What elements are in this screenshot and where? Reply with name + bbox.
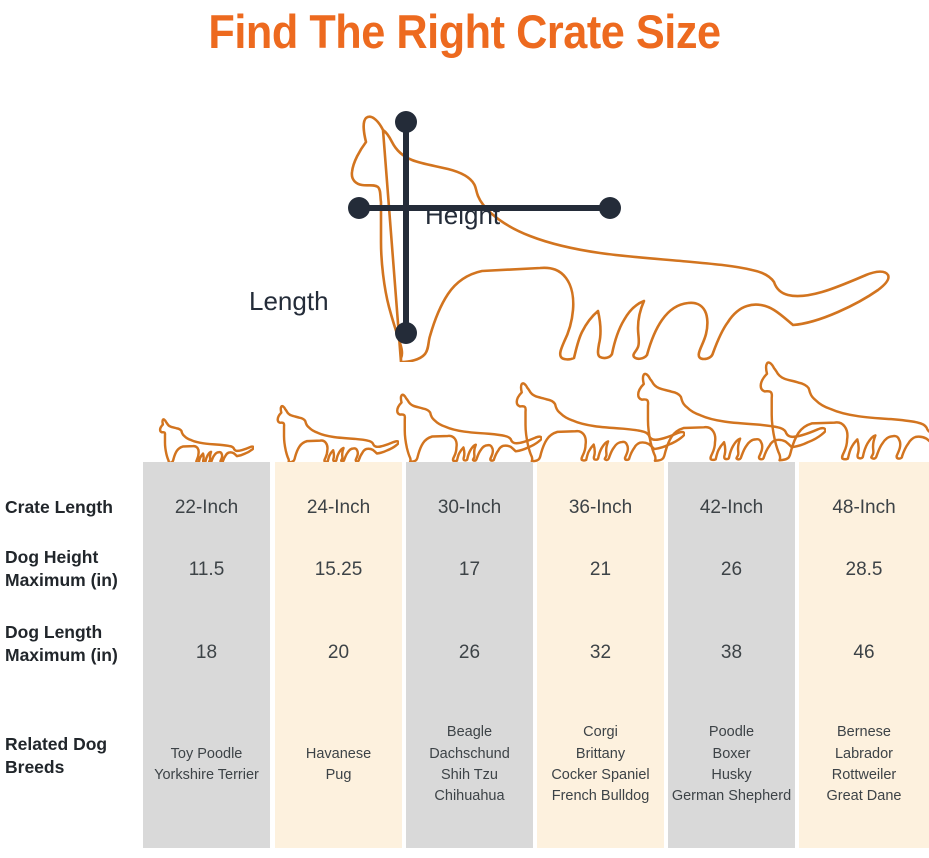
cell-related-breeds: CorgiBrittanyCocker SpanielFrench Bulldo… — [537, 722, 664, 807]
dog-silhouette-path — [160, 419, 254, 462]
breed-name: Bernese — [799, 722, 929, 743]
breed-name: Shih Tzu — [406, 765, 533, 786]
breed-name: Chihuahua — [406, 786, 533, 807]
cell-related-breeds: Toy PoodleYorkshire Terrier — [143, 744, 270, 787]
height-bottom-dot — [395, 322, 417, 344]
breed-name: Toy Poodle — [143, 744, 270, 765]
row-label-crate-length: Crate Length — [5, 496, 143, 519]
breed-name: Husky — [668, 765, 795, 786]
dog-silhouette-2 — [275, 403, 399, 465]
dog-silhouette-svg — [756, 357, 929, 465]
row-label-dog-length-max: Dog LengthMaximum (in) — [5, 621, 143, 668]
length-right-dot — [599, 197, 621, 219]
breed-name: Brittany — [537, 744, 664, 765]
cell-dog-height-max: 21 — [537, 559, 664, 582]
breed-name: Labrador — [799, 744, 929, 765]
breed-name: Havanese — [275, 744, 402, 765]
breed-name: Dachschund — [406, 744, 533, 765]
cell-crate-length: 22-Inch — [143, 497, 270, 520]
dog-silhouette-path — [761, 362, 929, 460]
row-label-dog-height-max: Dog HeightMaximum (in) — [5, 546, 143, 593]
cell-dog-height-max: 11.5 — [143, 559, 270, 582]
breed-name: Cocker Spaniel — [537, 765, 664, 786]
breed-name: Rottweiler — [799, 765, 929, 786]
breed-name: Corgi — [537, 722, 664, 743]
length-left-dot — [348, 197, 370, 219]
cell-related-breeds: HavanesePug — [275, 744, 402, 787]
cell-dog-length-max: 20 — [275, 642, 402, 665]
row-label-line: Crate Length — [5, 496, 143, 519]
row-label-line: Dog Length — [5, 621, 143, 644]
dog-silhouette-svg — [158, 417, 254, 465]
height-top-dot — [395, 111, 417, 133]
cell-crate-length: 48-Inch — [799, 497, 929, 520]
breed-name: Great Dane — [799, 786, 929, 807]
breed-name: French Bulldog — [537, 786, 664, 807]
cell-related-breeds: BerneseLabradorRottweilerGreat Dane — [799, 722, 929, 807]
dog-silhouette-1 — [158, 417, 254, 465]
cell-related-breeds: BeagleDachschundShih TzuChihuahua — [406, 722, 533, 807]
dog-silhouette-path — [278, 406, 399, 462]
dog-silhouette-6 — [756, 357, 929, 465]
row-label-line: Maximum (in) — [5, 644, 143, 667]
page-title: Find The Right Crate Size — [37, 4, 892, 59]
breed-name: German Shepherd — [668, 786, 795, 807]
cell-dog-height-max: 15.25 — [275, 559, 402, 582]
cell-dog-length-max: 46 — [799, 642, 929, 665]
breed-name: Yorkshire Terrier — [143, 765, 270, 786]
cell-dog-height-max: 26 — [668, 559, 795, 582]
row-label-line: Breeds — [5, 756, 143, 779]
row-label-line: Related Dog — [5, 733, 143, 756]
breed-name: Poodle — [668, 722, 795, 743]
cell-dog-length-max: 38 — [668, 642, 795, 665]
cell-related-breeds: PoodleBoxerHuskyGerman Shepherd — [668, 722, 795, 807]
dog-measurement-diagram: Height Length — [0, 92, 929, 362]
breed-name: Beagle — [406, 722, 533, 743]
length-label: Length — [249, 286, 329, 317]
cell-crate-length: 36-Inch — [537, 497, 664, 520]
dog-silhouette-strip — [0, 355, 929, 465]
height-label: Height — [425, 200, 500, 231]
row-label-line: Dog Height — [5, 546, 143, 569]
cell-crate-length: 42-Inch — [668, 497, 795, 520]
breed-name: Boxer — [668, 744, 795, 765]
cell-dog-length-max: 26 — [406, 642, 533, 665]
cell-dog-length-max: 32 — [537, 642, 664, 665]
cell-dog-height-max: 17 — [406, 559, 533, 582]
row-label-line: Maximum (in) — [5, 569, 143, 592]
cell-dog-length-max: 18 — [143, 642, 270, 665]
breed-name: Pug — [275, 765, 402, 786]
cell-dog-height-max: 28.5 — [799, 559, 929, 582]
row-label-related-breeds: Related DogBreeds — [5, 733, 143, 780]
cell-crate-length: 30-Inch — [406, 497, 533, 520]
dog-silhouette-svg — [275, 403, 399, 465]
cell-crate-length: 24-Inch — [275, 497, 402, 520]
